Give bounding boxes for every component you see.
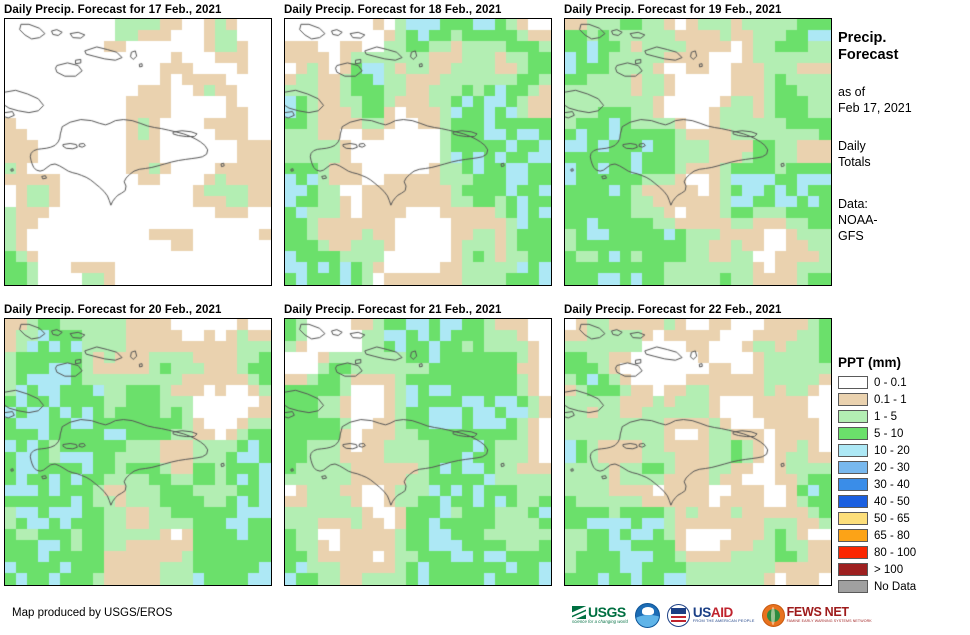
legend-swatch [838,580,868,593]
partner-logos: USGS science for a changing world USAID … [572,600,872,630]
legend-label: 5 - 10 [874,428,903,440]
precip-map[interactable] [4,18,272,286]
panel-title: Daily Precip. Forecast for 20 Feb., 2021 [4,304,222,316]
forecast-panel: Daily Precip. Forecast for 17 Feb., 2021 [4,4,272,286]
legend-swatch [838,410,868,423]
usaid-wordmark-us: US [693,606,711,620]
legend-swatch [838,529,868,542]
legend-label: 0.1 - 1 [874,394,907,406]
legend-item: 40 - 50 [838,493,968,510]
forecast-panel: Daily Precip. Forecast for 20 Feb., 2021 [4,304,272,586]
precip-raster-canvas[interactable] [5,319,271,585]
precip-map[interactable] [4,318,272,586]
fews-tagline: FAMINE EARLY WARNING SYSTEMS NETWORK [787,620,872,624]
panel-title: Daily Precip. Forecast for 19 Feb., 2021 [564,4,782,16]
legend-label: 20 - 30 [874,462,910,474]
precip-map[interactable] [284,18,552,286]
legend-label: 40 - 50 [874,496,910,508]
legend-item: 80 - 100 [838,544,968,561]
usaid-tagline: FROM THE AMERICAN PEOPLE [693,620,755,624]
precip-raster-canvas[interactable] [5,19,271,285]
panel-title: Daily Precip. Forecast for 22 Feb., 2021 [564,304,782,316]
legend-item: 10 - 20 [838,442,968,459]
usgs-mark-icon [572,606,586,619]
forecast-panel: Daily Precip. Forecast for 19 Feb., 2021 [564,4,832,286]
usaid-wordmark-aid: AID [711,606,733,620]
panel-title: Daily Precip. Forecast for 18 Feb., 2021 [284,4,502,16]
usgs-wordmark: USGS [588,606,626,619]
legend-swatch [838,495,868,508]
usaid-logo: USAID FROM THE AMERICAN PEOPLE [667,601,755,629]
precip-map[interactable] [564,18,832,286]
legend-label: 80 - 100 [874,547,916,559]
legend-swatch [838,512,868,525]
legend-label: 1 - 5 [874,411,897,423]
legend-item: 0 - 0.1 [838,374,968,391]
precip-forecast-map-page: Daily Precip. Forecast for 17 Feb., 2021… [0,0,970,635]
sidebar-data-source: Data: NOAA- GFS [838,196,970,244]
legend-item: 65 - 80 [838,527,968,544]
sidebar: Precip. Forecast as of Feb 17, 2021 Dail… [838,30,970,244]
sidebar-daily-totals: Daily Totals [838,138,970,170]
fews-net-logo: FEWS NET FAMINE EARLY WARNING SYSTEMS NE… [762,601,872,629]
noaa-logo [635,601,660,629]
usaid-seal-icon [667,604,690,627]
map-credit: Map produced by USGS/EROS [12,607,172,619]
legend-item: 50 - 65 [838,510,968,527]
legend-item: 0.1 - 1 [838,391,968,408]
forecast-panel: Daily Precip. Forecast for 18 Feb., 2021 [284,4,552,286]
sidebar-heading: Precip. Forecast [838,30,970,64]
legend-label: 30 - 40 [874,479,910,491]
legend-swatch [838,427,868,440]
legend: PPT (mm) 0 - 0.10.1 - 11 - 55 - 1010 - 2… [838,355,968,595]
legend-label: 0 - 0.1 [874,377,907,389]
panel-title: Daily Precip. Forecast for 17 Feb., 2021 [4,4,222,16]
panel-title: Daily Precip. Forecast for 21 Feb., 2021 [284,304,502,316]
legend-label: > 100 [874,564,903,576]
legend-swatch [838,461,868,474]
fews-wordmark: FEWS NET [787,606,872,619]
legend-rows: 0 - 0.10.1 - 11 - 55 - 1010 - 2020 - 303… [838,374,968,595]
usgs-logo: USGS science for a changing world [572,601,628,629]
legend-item: 5 - 10 [838,425,968,442]
legend-label: 10 - 20 [874,445,910,457]
legend-swatch [838,546,868,559]
legend-item: 20 - 30 [838,459,968,476]
usgs-tagline: science for a changing world [572,619,628,624]
precip-raster-canvas[interactable] [565,19,831,285]
legend-title: PPT (mm) [838,355,968,370]
forecast-panel: Daily Precip. Forecast for 22 Feb., 2021 [564,304,832,586]
precip-map[interactable] [284,318,552,586]
legend-item: 1 - 5 [838,408,968,425]
precip-raster-canvas[interactable] [285,319,551,585]
sidebar-as-of: as of Feb 17, 2021 [838,84,970,116]
noaa-seal-icon [635,603,660,628]
legend-swatch [838,376,868,389]
legend-item: > 100 [838,561,968,578]
legend-swatch [838,563,868,576]
legend-label: No Data [874,581,916,593]
precip-raster-canvas[interactable] [565,319,831,585]
precip-raster-canvas[interactable] [285,19,551,285]
precip-map[interactable] [564,318,832,586]
legend-swatch [838,478,868,491]
legend-label: 50 - 65 [874,513,910,525]
legend-swatch [838,444,868,457]
legend-item: No Data [838,578,968,595]
fews-globe-icon [762,604,785,627]
legend-item: 30 - 40 [838,476,968,493]
legend-label: 65 - 80 [874,530,910,542]
forecast-panel: Daily Precip. Forecast for 21 Feb., 2021 [284,304,552,586]
legend-swatch [838,393,868,406]
